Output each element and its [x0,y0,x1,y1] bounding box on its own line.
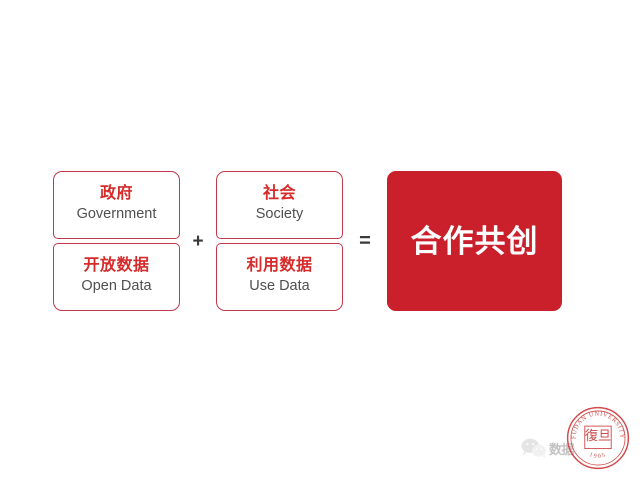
result-block[interactable]: 合作共创 [387,171,562,311]
card-title-en: Society [256,205,304,224]
equation-column-1: 政府 Government 开放数据 Open Data [53,171,180,311]
card-society[interactable]: 社会 Society [216,171,343,239]
operator-plus: + [180,232,216,251]
equation-column-2: 社会 Society 利用数据 Use Data [216,171,343,311]
wechat-icon [521,437,547,459]
equation-row: 政府 Government 开放数据 Open Data + 社会 Societ… [53,171,587,311]
operator-equals: = [343,231,387,251]
card-title-cn: 社会 [263,184,296,203]
card-title-en: Government [77,205,157,224]
card-open-data[interactable]: 开放数据 Open Data [53,243,180,311]
card-title-en: Use Data [249,277,309,296]
seal-center-text: 復旦 [585,427,611,443]
card-use-data[interactable]: 利用数据 Use Data [216,243,343,311]
card-government[interactable]: 政府 Government [53,171,180,239]
result-label: 合作共创 [411,226,539,257]
card-title-cn: 开放数据 [83,256,149,275]
slide-canvas: 政府 Government 开放数据 Open Data + 社会 Societ… [0,0,640,480]
card-title-cn: 利用数据 [246,256,312,275]
card-title-cn: 政府 [100,184,133,203]
card-title-en: Open Data [81,277,151,296]
fudan-university-seal: FUDAN UNIVERSITY 1905 復旦 [565,405,631,471]
seal-year-text: 1905 [588,452,607,460]
